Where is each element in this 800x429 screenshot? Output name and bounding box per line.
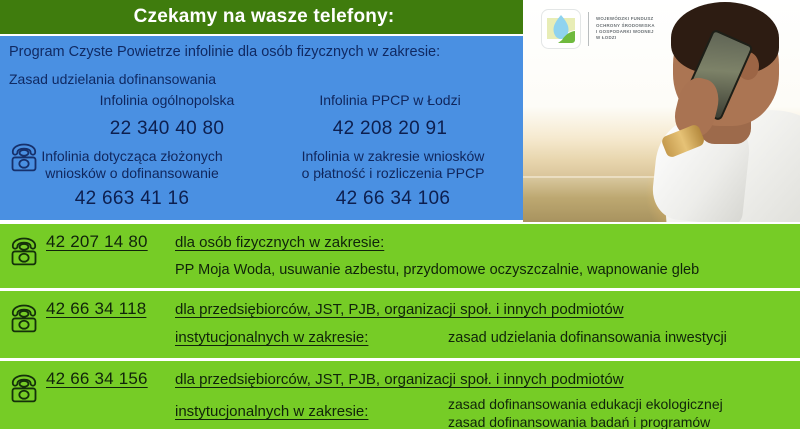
- hotline-label-line1: Infolinia dotycząca złożonych: [2, 148, 262, 165]
- logo-text-line4: W ŁODZI: [596, 35, 616, 40]
- panel-lead-text: Program Czyste Powietrze infolinie dla o…: [9, 44, 440, 60]
- page-title: Czekamy na wasze telefony:: [134, 6, 395, 28]
- logo-text-line3: I GOSPODARKI WODNEJ: [596, 29, 654, 34]
- hotline-audience-line1: dla przedsiębiorców, JST, PJB, organizac…: [175, 371, 624, 388]
- hotline-number: 42 663 41 16: [2, 188, 262, 210]
- hotline-audience-line1: dla przedsiębiorców, JST, PJB, organizac…: [175, 301, 624, 318]
- hotline-audience-line2: instytucjonalnych w zakresie:: [175, 329, 368, 346]
- hotline-submitted-applications: Infolinia dotycząca złożonych wniosków o…: [2, 148, 262, 210]
- hotline-label-line2: wniosków o dofinansowanie: [2, 165, 262, 182]
- hotline-number: 42 66 34 106: [268, 188, 518, 210]
- hotline-number: 42 207 14 80: [46, 232, 148, 252]
- hotline-scope-line1: zasad dofinansowania edukacji ekologiczn…: [448, 395, 723, 414]
- telephone-icon: [5, 232, 43, 270]
- logo-text-line2: OCHRONY ŚRODOWISKA: [596, 23, 655, 28]
- hotline-number: 42 66 34 156: [46, 369, 148, 389]
- hotline-label: Infolinia ogólnopolska: [62, 92, 272, 109]
- hotline-label: Infolinia PPCP w Łodzi: [275, 92, 505, 109]
- infographic-poster: Czekamy na wasze telefony: Program Czyst…: [0, 0, 800, 429]
- hotline-audience-line2: instytucjonalnych w zakresie:: [175, 403, 368, 420]
- hotline-row-individuals: 42 207 14 80 dla osób fizycznych w zakre…: [0, 224, 800, 288]
- hotline-row-institutions-education: 42 66 34 156 dla przedsiębiorców, JST, P…: [0, 361, 800, 429]
- hotline-label-line2: o płatność i rozliczenia PPCP: [268, 165, 518, 182]
- logo-text: WOJEWÓDZKI FUNDUSZ OCHRONY ŚRODOWISKA I …: [596, 16, 655, 42]
- telephone-icon: [5, 299, 43, 337]
- hotline-audience: dla osób fizycznych w zakresie:: [175, 234, 384, 251]
- logo-divider: [588, 12, 589, 46]
- hotline-scope: PP Moja Woda, usuwanie azbestu, przydomo…: [175, 262, 699, 278]
- top-section: Czekamy na wasze telefony: Program Czyst…: [0, 0, 800, 222]
- hotline-number: 22 340 40 80: [62, 118, 272, 140]
- blue-info-panel: Program Czyste Powietrze infolinie dla o…: [0, 36, 523, 220]
- hotline-payments-settlements: Infolinia w zakresie wniosków o płatność…: [268, 148, 518, 210]
- telephone-icon: [5, 369, 43, 407]
- hotline-scope-line2: zasad dofinansowania badań i programów: [448, 413, 710, 429]
- hotline-label-line1: Infolinia w zakresie wniosków: [268, 148, 518, 165]
- hotline-row-institutions-investments: 42 66 34 118 dla przedsiębiorców, JST, P…: [0, 291, 800, 358]
- wfosigw-droplet-leaf-logo-icon: [541, 9, 581, 49]
- wfosigw-logo: WOJEWÓDZKI FUNDUSZ OCHRONY ŚRODOWISKA I …: [541, 8, 691, 50]
- green-hotline-rows: 42 207 14 80 dla osób fizycznych w zakre…: [0, 222, 800, 429]
- hotline-ppcp-lodz: Infolinia PPCP w Łodzi 42 208 20 91: [275, 92, 505, 140]
- panel-subtitle: Zasad udzielania dofinansowania: [9, 71, 216, 87]
- logo-text-line1: WOJEWÓDZKI FUNDUSZ: [596, 16, 653, 21]
- hotline-number: 42 66 34 118: [46, 299, 146, 319]
- hotline-national: Infolinia ogólnopolska 22 340 40 80: [62, 92, 272, 140]
- hotline-number: 42 208 20 91: [275, 118, 505, 140]
- header-bar: Czekamy na wasze telefony:: [0, 0, 528, 34]
- hotline-scope: zasad udzielania dofinansowania inwestyc…: [448, 330, 727, 346]
